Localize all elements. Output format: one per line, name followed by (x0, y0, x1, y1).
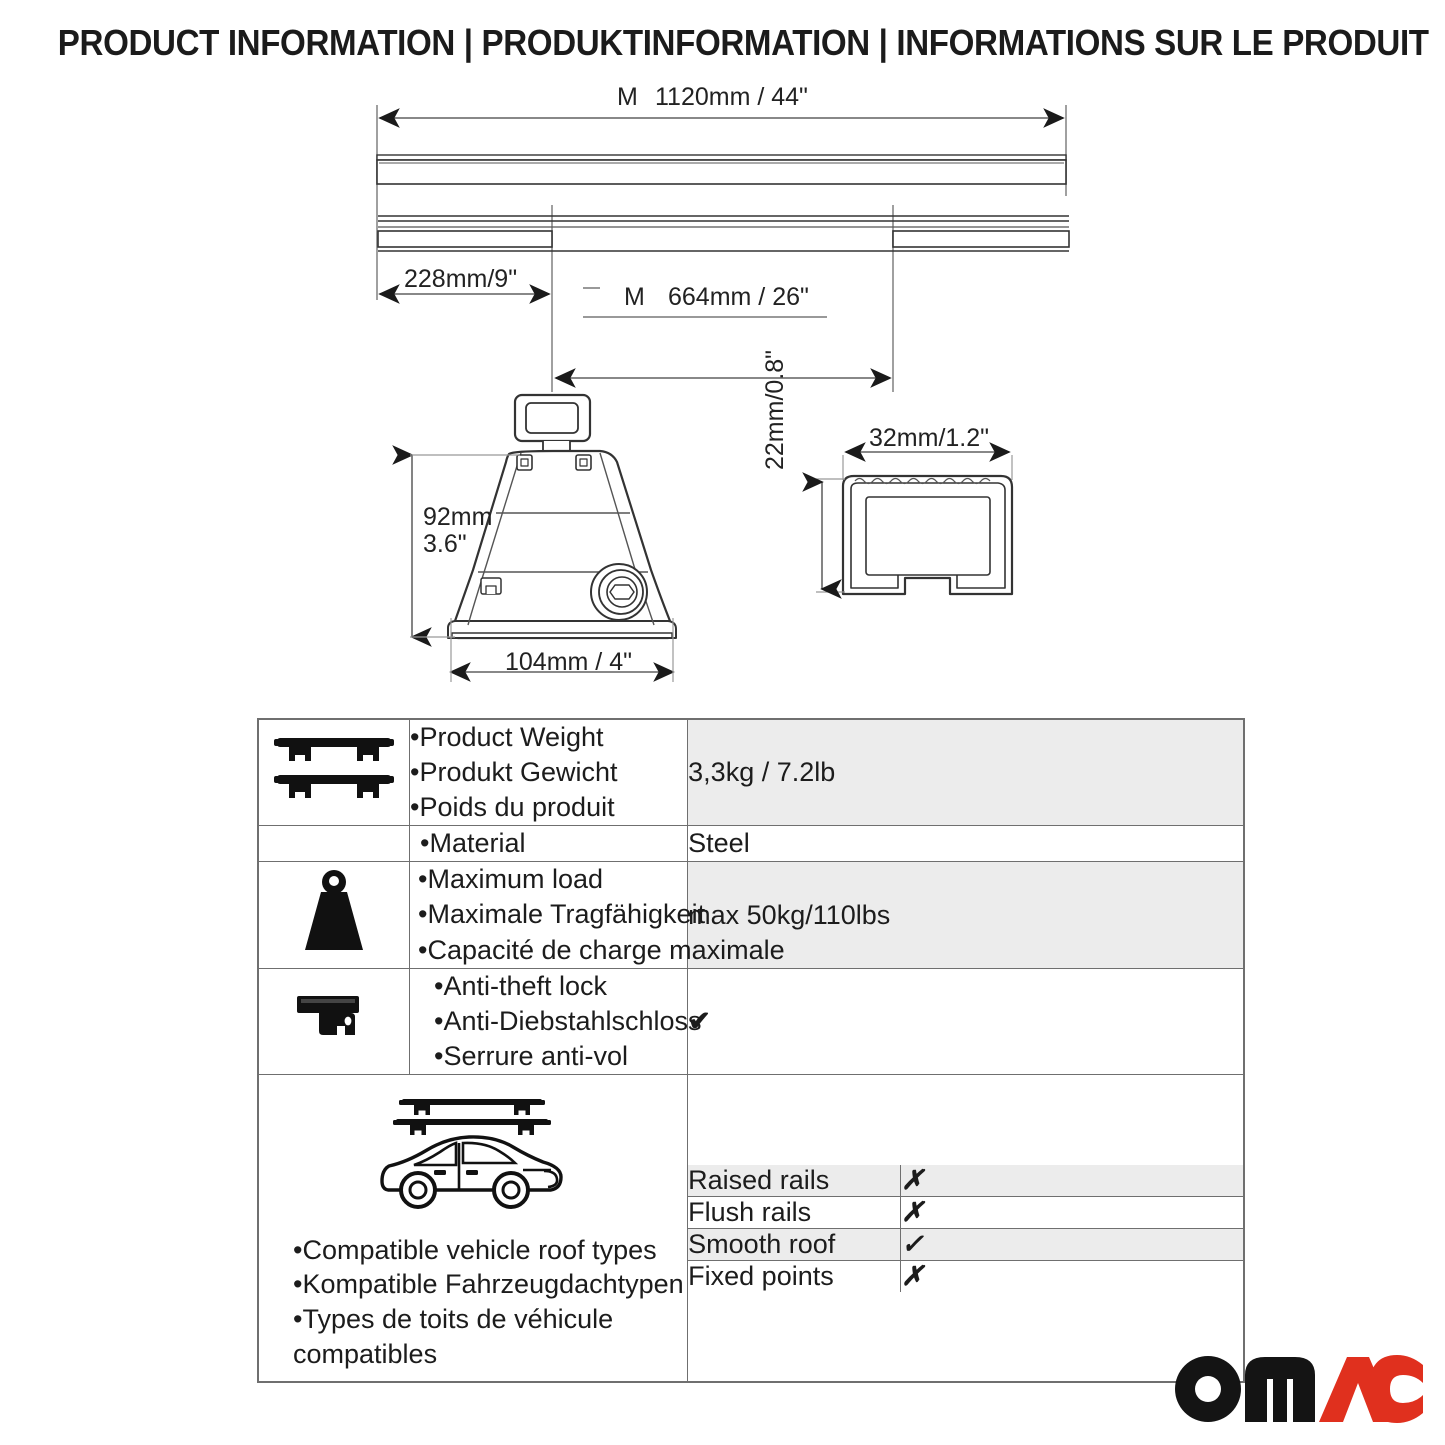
bullet-line: •Maximale Tragfähigkeit (418, 897, 687, 932)
offset-dim-label: 228mm/9" (404, 265, 517, 294)
bullet-line: •Material (420, 826, 687, 861)
roof-type-name: Fixed points (688, 1260, 901, 1292)
top-bar-view (377, 105, 1066, 196)
specification-table: •Product Weight •Produkt Gewicht •Poids … (257, 718, 1245, 1383)
product-information-sheet: PRODUCT INFORMATION | PRODUKTINFORMATION… (0, 0, 1445, 1445)
roof-type-mark: ✗ (901, 1260, 1243, 1292)
table-row: •Material Steel (258, 826, 1244, 862)
row-bullets: •Product Weight •Produkt Gewicht •Poids … (410, 720, 687, 825)
row-icon-cell (258, 826, 410, 862)
row-label-cell: •Maximum load •Maximale Tragfähigkeit •C… (410, 862, 688, 968)
table-row-compatibility: •Compatible vehicle roof types •Kompatib… (258, 1074, 1244, 1382)
row-value-cell: 3,3kg / 7.2lb (688, 719, 1244, 826)
technical-drawing: M 1120mm / 44" 228mm/9" M 664mm / 26" 92… (0, 0, 1445, 710)
bullet-line: •Capacité de charge maximale (418, 933, 687, 968)
row-label-cell: •Anti-theft lock •Anti-Diebstahlschloss … (410, 968, 688, 1074)
roof-type-name: Smooth roof (688, 1228, 901, 1260)
row-icon-cell (258, 862, 410, 968)
table-row: •Product Weight •Produkt Gewicht •Poids … (258, 719, 1244, 826)
bar-total-length-label: 1120mm / 44" (655, 83, 808, 112)
profile-height-label: 22mm/0.8" (761, 350, 790, 470)
row-value-check: ✔ (688, 968, 1244, 1074)
profile-width-label: 32mm/1.2" (869, 424, 989, 453)
roof-type-row: Fixed points ✗ (688, 1260, 1243, 1292)
roof-type-name: Flush rails (688, 1196, 901, 1228)
bullet-line: compatibles (293, 1337, 684, 1372)
spread-prefix-label: M (624, 283, 645, 312)
lock-icon (293, 990, 375, 1046)
bullet-line: •Anti-Diebstahlschloss (434, 1004, 687, 1039)
bar-total-prefix-label: M (617, 83, 638, 112)
row-label-cell: •Product Weight •Produkt Gewicht •Poids … (410, 719, 688, 826)
logo-letter-m (1245, 1357, 1315, 1422)
row-icon-cell (258, 968, 410, 1074)
roof-type-name: Raised rails (688, 1165, 901, 1197)
bullet-line: •Compatible vehicle roof types (293, 1233, 684, 1268)
bullet-line: •Maximum load (418, 862, 687, 897)
roof-type-row: Flush rails ✗ (688, 1196, 1243, 1228)
compatibility-label-cell: •Compatible vehicle roof types •Kompatib… (258, 1074, 688, 1382)
bullet-line: •Types de toits de véhicule (293, 1302, 684, 1337)
bullet-line: •Kompatible Fahrzeugdachtypen (293, 1267, 684, 1302)
omac-logo-svg (1173, 1353, 1423, 1425)
roof-type-row: Raised rails ✗ (688, 1165, 1243, 1197)
roof-type-mark: ✗ (901, 1165, 1243, 1197)
foot-width-label: 104mm / 4" (505, 648, 632, 677)
row-bullets: •Maximum load •Maximale Tragfähigkeit •C… (418, 862, 687, 967)
spread-dim-label: 664mm / 26" (668, 283, 809, 312)
bullet-line: •Product Weight (410, 720, 687, 755)
roof-type-mark: ✗ (901, 1196, 1243, 1228)
row-bullets: •Material (420, 826, 687, 861)
row-label-cell: •Material (410, 826, 688, 862)
roof-type-mark: ✓ (901, 1228, 1243, 1260)
bullet-line: •Produkt Gewicht (410, 755, 687, 790)
row-icon-cell (258, 719, 410, 826)
foot-height-inch-label: 3.6" (423, 530, 467, 559)
roof-type-table: Raised rails ✗ Flush rails ✗ Smooth roof… (688, 1165, 1243, 1292)
table-row: •Maximum load •Maximale Tragfähigkeit •C… (258, 862, 1244, 968)
bullet-line: •Poids du produit (410, 790, 687, 825)
foot-height-label: 92mm (423, 503, 492, 532)
logo-letter-c (1369, 1355, 1423, 1423)
table-row: •Anti-theft lock •Anti-Diebstahlschloss … (258, 968, 1244, 1074)
compatibility-block: •Compatible vehicle roof types •Kompatib… (259, 1075, 687, 1381)
bullet-line: •Anti-theft lock (434, 969, 687, 1004)
row-bullets: •Anti-theft lock •Anti-Diebstahlschloss … (434, 969, 687, 1074)
roof-rack-bars-icon (269, 730, 399, 808)
row-value-cell: Steel (688, 826, 1244, 862)
weight-icon (297, 868, 371, 956)
compatibility-matrix-cell: Raised rails ✗ Flush rails ✗ Smooth roof… (688, 1074, 1244, 1382)
car-with-rack-icon (366, 1089, 581, 1219)
compatibility-bullets: •Compatible vehicle roof types •Kompatib… (259, 1233, 684, 1371)
omac-logo (1173, 1353, 1423, 1425)
profile-cross-section (816, 452, 1012, 594)
bullet-line: •Serrure anti-vol (434, 1039, 687, 1074)
roof-type-row: Smooth roof ✓ (688, 1228, 1243, 1260)
